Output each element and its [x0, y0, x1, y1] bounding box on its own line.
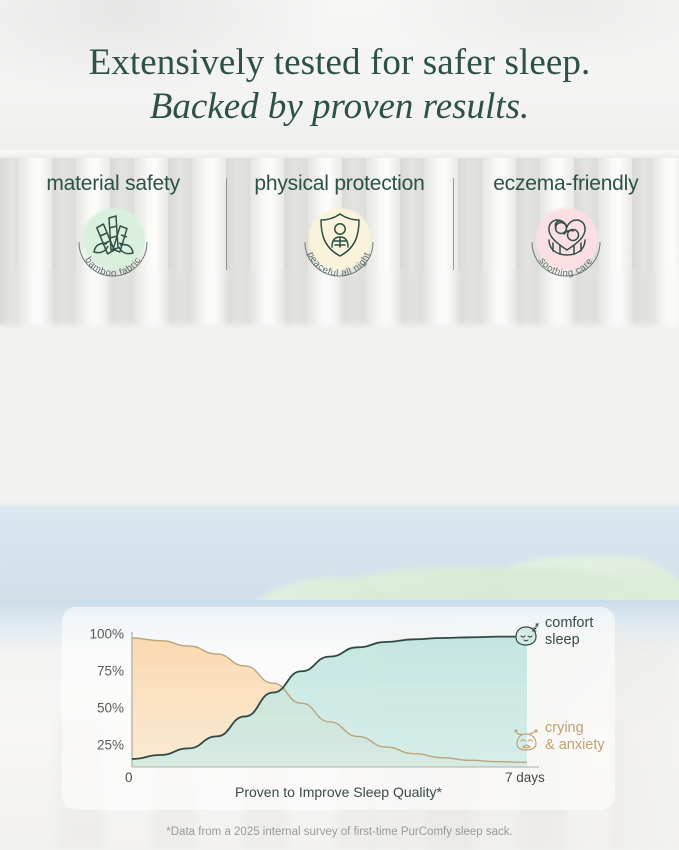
headline-line-1: Extensively tested for safer sleep.	[0, 44, 679, 82]
sleeping-baby-icon	[512, 623, 542, 649]
heart-hands-baby-icon	[540, 210, 594, 262]
legend-label-line-2: sleep	[545, 632, 580, 648]
chart-inner: 100% 75% 50% 25%	[62, 607, 615, 810]
y-tick-label: 25%	[97, 738, 124, 753]
x-tick-label-start: 0	[125, 770, 133, 785]
legend-label-line-1: comfort	[545, 615, 593, 631]
legend-label-line-1: crying	[545, 720, 584, 736]
badge-eczema-friendly[interactable]: eczema-friendly soothing care	[453, 172, 679, 282]
shield-baby-icon	[313, 210, 367, 262]
y-tick-label: 100%	[89, 627, 124, 642]
footnote: *Data from a 2025 internal survey of fir…	[0, 826, 679, 838]
x-tick-label-end: 7 days	[505, 770, 545, 785]
badge-title: eczema-friendly	[453, 172, 679, 196]
y-tick-label: 50%	[97, 701, 124, 716]
crying-baby-icon	[512, 728, 542, 754]
badge-title: material safety	[0, 172, 226, 196]
y-tick-label: 75%	[97, 664, 124, 679]
legend-label-line-2: & anxiety	[545, 737, 605, 753]
sleep-quality-chart-card: 100% 75% 50% 25%	[62, 607, 615, 810]
badge-mark: bamboo fabric	[67, 198, 159, 290]
badge-title: physical protection	[226, 172, 452, 196]
page-title: Extensively tested for safer sleep. Back…	[0, 44, 679, 125]
badge-mark: peaceful all night	[293, 198, 385, 290]
badge-material-safety[interactable]: material safety bamboo fabric	[0, 172, 226, 282]
badge-physical-protection[interactable]: physical protection peaceful all night	[226, 172, 452, 282]
bamboo-icon	[87, 210, 141, 262]
badge-mark: soothing care	[520, 198, 612, 290]
chart-y-axis: 100% 75% 50% 25%	[62, 607, 124, 810]
headline-line-2: Backed by proven results.	[0, 88, 679, 126]
baby-photo	[0, 280, 679, 620]
trust-badges: material safety bamboo fabric	[0, 172, 679, 282]
chart-caption: Proven to Improve Sleep Quality*	[62, 784, 615, 800]
